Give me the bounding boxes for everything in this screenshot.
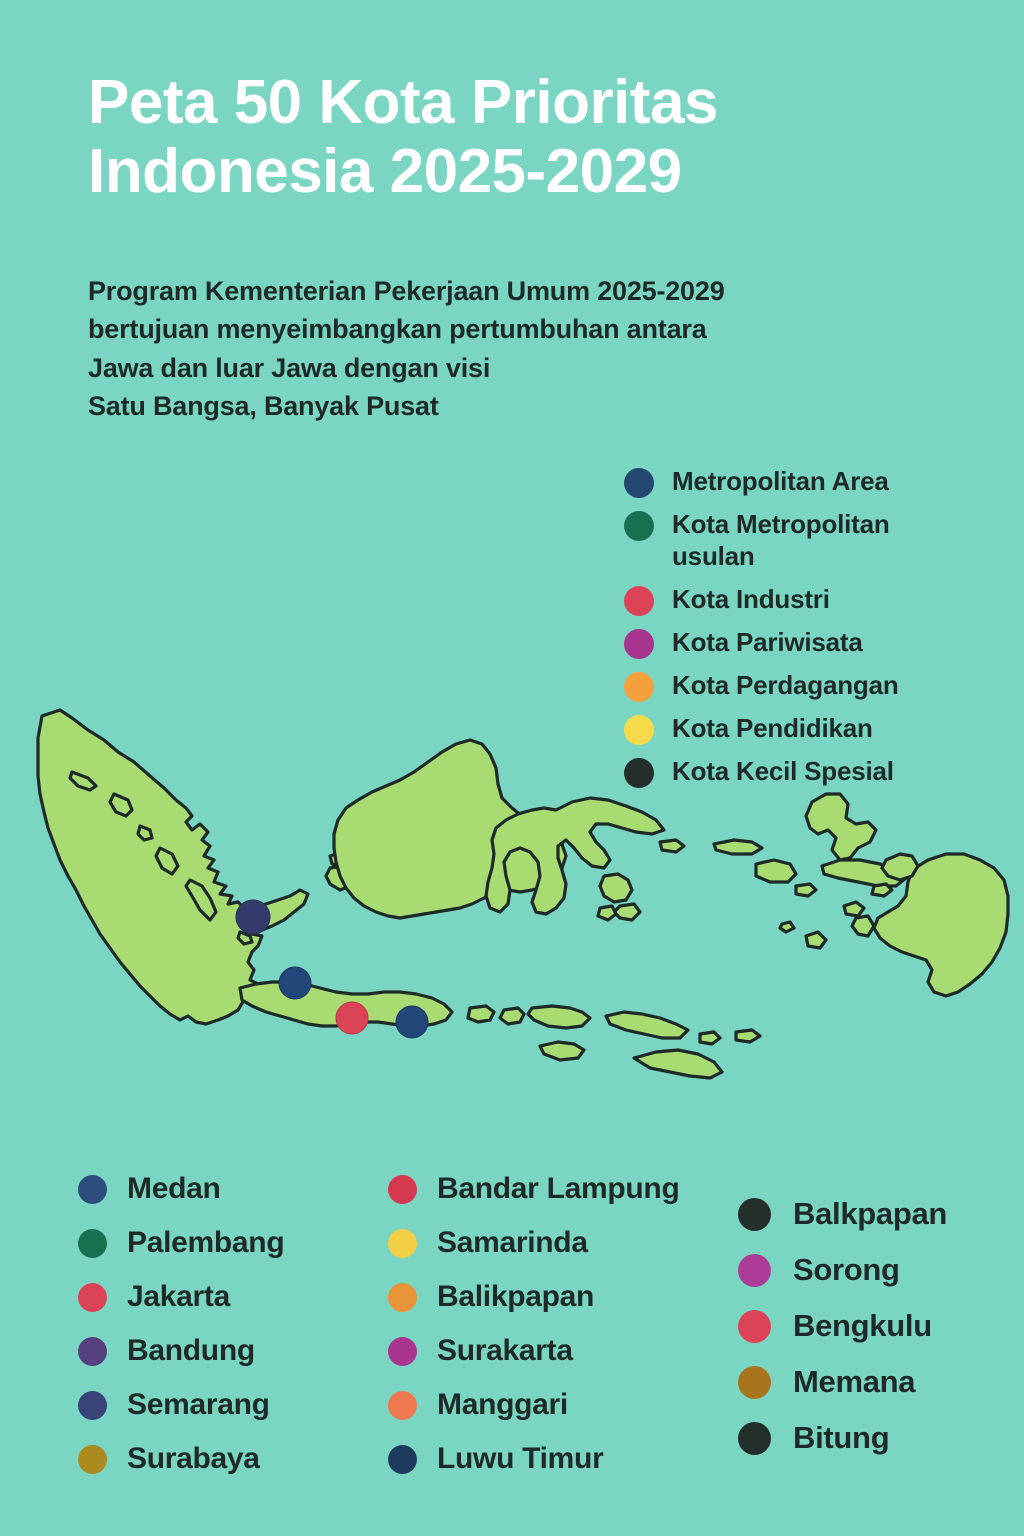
city-list-column-3: BalkpapanSorongBengkuluMemanaBitung (738, 1186, 947, 1466)
island-buton (614, 904, 640, 920)
city-name-label: Surabaya (127, 1442, 260, 1476)
marker-jakarta (336, 1002, 368, 1034)
city-name-label: Palembang (127, 1226, 284, 1260)
infographic-page: Peta 50 Kota Prioritas Indonesia 2025-20… (0, 0, 1024, 1536)
city-color-dot-icon (388, 1283, 417, 1312)
island-banda (780, 922, 794, 932)
city-list-item[interactable]: Bengkulu (738, 1298, 947, 1354)
island-timor (634, 1050, 722, 1078)
legend-item-label: Kota Pendidikan (672, 713, 873, 745)
city-color-dot-icon (78, 1283, 107, 1312)
legend-item-label: Kota Pariwisata (672, 627, 863, 659)
legend-item[interactable]: Metropolitan Area (624, 466, 1004, 498)
city-list-item[interactable]: Balkpapan (738, 1186, 947, 1242)
legend-item[interactable]: Kota Pariwisata (624, 627, 1004, 659)
city-name-label: Bandar Lampung (437, 1172, 679, 1206)
marker-jakarta-west (279, 967, 311, 999)
city-list-item[interactable]: Surakarta (388, 1324, 679, 1378)
city-name-label: Samarinda (437, 1226, 588, 1260)
city-list-column-1: MedanPalembangJakartaBandungSemarangSura… (78, 1162, 284, 1486)
city-list-item[interactable]: Jakarta (78, 1270, 284, 1324)
city-list-item[interactable]: Sorong (738, 1242, 947, 1298)
legend-item[interactable]: Kota Perdagangan (624, 670, 1004, 702)
page-title-line-2: Indonesia 2025-2029 (88, 137, 968, 206)
island-sulawesi-se-arm (600, 874, 632, 902)
city-list-item[interactable]: Memana (738, 1354, 947, 1410)
city-name-label: Jakarta (127, 1280, 230, 1314)
city-color-dot-icon (388, 1337, 417, 1366)
legend-color-dot-icon (624, 672, 654, 702)
island-banggai (660, 840, 684, 852)
island-bali (468, 1006, 494, 1022)
island-flores (606, 1012, 688, 1038)
city-color-dot-icon (388, 1391, 417, 1420)
legend-item[interactable]: Kota Industri (624, 584, 1004, 616)
city-list-item[interactable]: Balikpapan (388, 1270, 679, 1324)
island-aru (852, 916, 874, 936)
legend-item-label: Metropolitan Area (672, 466, 889, 498)
page-title: Peta 50 Kota Prioritas Indonesia 2025-20… (88, 68, 968, 207)
city-color-dot-icon (388, 1229, 417, 1258)
island-tanimbar (806, 932, 826, 948)
city-list-item[interactable]: Manggari (388, 1378, 679, 1432)
legend-item-label: Kota Industri (672, 584, 830, 616)
city-name-label: Bitung (793, 1420, 889, 1456)
marker-palembang (236, 900, 270, 934)
city-color-dot-icon (78, 1445, 107, 1474)
island-lombok (500, 1008, 524, 1024)
legend-item[interactable]: Kota Kecil Spesial (624, 756, 1004, 788)
island-sula (714, 840, 762, 854)
page-subtitle-line-4: Satu Bangsa, Banyak Pusat (88, 387, 968, 425)
city-name-label: Medan (127, 1172, 221, 1206)
legend-item-label: Kota Kecil Spesial (672, 756, 894, 788)
city-color-dot-icon (738, 1198, 771, 1231)
island-wetar (736, 1030, 760, 1042)
city-list-item[interactable]: Semarang (78, 1378, 284, 1432)
page-subtitle-line-3: Jawa dan luar Jawa dengan visi (88, 349, 968, 387)
city-name-label: Surakarta (437, 1334, 573, 1368)
legend-color-dot-icon (624, 758, 654, 788)
city-name-label: Semarang (127, 1388, 270, 1422)
city-color-dot-icon (738, 1366, 771, 1399)
legend-item-label: Kota Perdagangan (672, 670, 899, 702)
city-list-item[interactable]: Palembang (78, 1216, 284, 1270)
city-color-dot-icon (78, 1391, 107, 1420)
city-name-label: Balikpapan (437, 1280, 594, 1314)
legend-item-label: Kota Metropolitan usulan (672, 509, 942, 573)
island-papua-birdshead (882, 854, 918, 880)
island-misool (872, 884, 892, 896)
city-list-item[interactable]: Surabaya (78, 1432, 284, 1486)
city-color-dot-icon (738, 1310, 771, 1343)
legend-color-dot-icon (624, 468, 654, 498)
page-title-line-1: Peta 50 Kota Prioritas (88, 68, 968, 137)
legend-color-dot-icon (624, 586, 654, 616)
page-subtitle-line-2: bertujuan menyeimbangkan pertumbuhan ant… (88, 310, 968, 348)
island-alor (700, 1032, 720, 1044)
city-color-dot-icon (78, 1229, 107, 1258)
city-color-dot-icon (78, 1175, 107, 1204)
city-list-item[interactable]: Medan (78, 1162, 284, 1216)
island-kai (844, 902, 864, 916)
marker-surabaya (396, 1006, 428, 1038)
legend-item[interactable]: Kota Pendidikan (624, 713, 1004, 745)
island-sumba (540, 1042, 584, 1060)
city-name-label: Bengkulu (793, 1308, 932, 1344)
city-name-label: Bandung (127, 1334, 255, 1368)
island-sumatra (38, 710, 262, 1024)
island-halmahera (806, 794, 876, 860)
page-subtitle-line-1: Program Kementerian Pekerjaan Umum 2025-… (88, 272, 968, 310)
legend-color-dot-icon (624, 715, 654, 745)
island-muna (598, 906, 616, 920)
city-list-item[interactable]: Bitung (738, 1410, 947, 1466)
city-color-dot-icon (738, 1422, 771, 1455)
city-color-dot-icon (388, 1175, 417, 1204)
city-color-dot-icon (738, 1254, 771, 1287)
city-color-dot-icon (388, 1445, 417, 1474)
island-sumbawa (528, 1006, 590, 1028)
legend-item[interactable]: Kota Metropolitan usulan (624, 509, 1004, 573)
city-name-label: Sorong (793, 1252, 900, 1288)
island-buru (756, 860, 796, 882)
city-name-label: Memana (793, 1364, 915, 1400)
city-color-dot-icon (78, 1337, 107, 1366)
island-obi (796, 884, 816, 896)
city-list-item[interactable]: Bandung (78, 1324, 284, 1378)
city-name-label: Manggari (437, 1388, 568, 1422)
indonesia-map (0, 690, 1024, 1110)
city-list-column-2: Bandar LampungSamarindaBalikpapanSurakar… (388, 1162, 679, 1486)
city-name-label: Balkpapan (793, 1196, 947, 1232)
city-list-item[interactable]: Luwu Timur (388, 1432, 679, 1486)
city-list-item[interactable]: Bandar Lampung (388, 1162, 679, 1216)
city-name-label: Luwu Timur (437, 1442, 603, 1476)
legend-color-dot-icon (624, 629, 654, 659)
page-subtitle: Program Kementerian Pekerjaan Umum 2025-… (88, 272, 968, 425)
city-list-item[interactable]: Samarinda (388, 1216, 679, 1270)
legend-color-dot-icon (624, 511, 654, 541)
